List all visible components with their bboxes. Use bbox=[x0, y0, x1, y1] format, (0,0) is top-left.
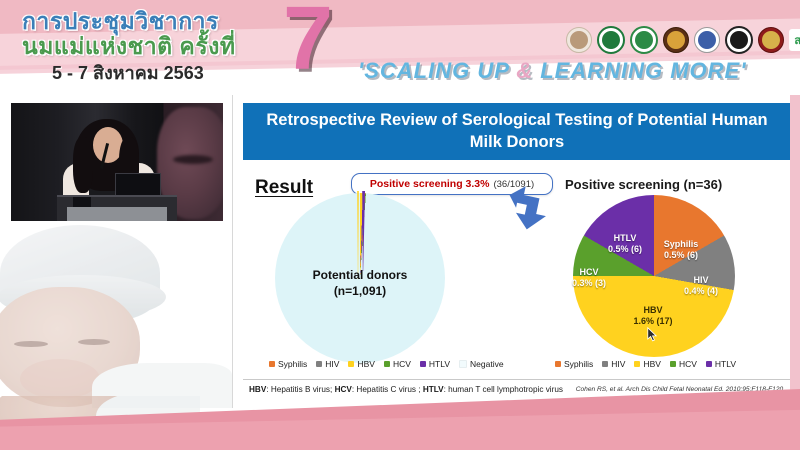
tagline-ampersand: & bbox=[516, 58, 533, 83]
slice-label-hcv-value: 0.3% (3) bbox=[563, 278, 615, 289]
abbrev-hbv-key: HBV bbox=[249, 385, 266, 394]
slice-label-hbv-name: HBV bbox=[617, 305, 689, 316]
potential-donors-pie-chart[interactable]: Potential donors (n=1,091) bbox=[275, 193, 461, 379]
legend-swatch-syphilis bbox=[269, 361, 275, 367]
legend2-swatch-syphilis bbox=[555, 361, 561, 367]
abbrev-htlv-def: : human T cell lymphotropic virus bbox=[444, 385, 563, 394]
conference-date-thai: 5 - 7 สิงหาคม 2563 bbox=[52, 58, 204, 87]
left-video-panel bbox=[0, 95, 232, 408]
black-circle-institution-logo-icon bbox=[725, 26, 753, 54]
slice-label-hiv: HIV 0.4% (4) bbox=[677, 275, 725, 298]
watermark-baby-eye-left bbox=[14, 341, 48, 347]
legend2-item-htlv: HTLV bbox=[706, 359, 736, 369]
slice-label-syphilis-name: Syphilis bbox=[653, 239, 709, 250]
legend-item-hiv: HIV bbox=[316, 359, 339, 369]
watermark-baby-cheek bbox=[20, 359, 100, 399]
legend-label-hiv: HIV bbox=[325, 359, 339, 369]
tagline-part-2: LEARNING MORE' bbox=[540, 58, 746, 83]
royal-emblem-logo-icon bbox=[566, 27, 592, 53]
potential-donors-legend: Syphilis HIV HBV HCV HTLV Negative bbox=[269, 359, 504, 369]
slice-label-syphilis-value: 0.5% (6) bbox=[653, 250, 709, 261]
slice-label-htlv: HTLV 0.5% (6) bbox=[599, 233, 651, 256]
watermark-baby-eye-right bbox=[78, 339, 110, 345]
legend2-item-syphilis: Syphilis bbox=[555, 359, 593, 369]
legend-item-htlv: HTLV bbox=[420, 359, 450, 369]
conference-tagline: 'SCALING UP & LEARNING MORE' bbox=[358, 58, 746, 84]
legend-swatch-htlv bbox=[420, 361, 426, 367]
slice-label-htlv-name: HTLV bbox=[599, 233, 651, 244]
legend2-label-hbv: HBV bbox=[643, 359, 660, 369]
legend2-label-htlv: HTLV bbox=[715, 359, 736, 369]
legend2-label-syphilis: Syphilis bbox=[564, 359, 593, 369]
positive-screening-legend: Syphilis HIV HBV HCV HTLV bbox=[555, 359, 736, 369]
legend-swatch-negative bbox=[459, 360, 467, 368]
podium-base bbox=[67, 207, 167, 221]
slice-label-htlv-value: 0.5% (6) bbox=[599, 244, 651, 255]
abbrev-hbv-def: : Hepatitis B virus; bbox=[266, 385, 334, 394]
legend-item-hcv: HCV bbox=[384, 359, 411, 369]
conference-header-banner: การประชุมวิชาการ นมแม่แห่งชาติ ครั้งที่ … bbox=[0, 0, 800, 95]
slice-label-hiv-value: 0.4% (4) bbox=[677, 286, 725, 297]
down-right-arrow-icon bbox=[501, 185, 549, 233]
speaker-webcam-video[interactable] bbox=[11, 103, 223, 221]
slide-screenshot: การประชุมวิชาการ นมแม่แห่งชาติ ครั้งที่ … bbox=[0, 0, 800, 450]
tagline-part-1: 'SCALING UP bbox=[358, 58, 509, 83]
abbrev-htlv-key: HTLV bbox=[423, 385, 444, 394]
legend2-swatch-hcv bbox=[670, 361, 676, 367]
legend-swatch-hiv bbox=[316, 361, 322, 367]
legend-label-hcv: HCV bbox=[393, 359, 411, 369]
baby-photo-watermark bbox=[0, 223, 232, 408]
legend-label-negative: Negative bbox=[470, 359, 504, 369]
positive-screening-chart-title: Positive screening (n=36) bbox=[565, 177, 722, 192]
red-royal-seal-logo-icon bbox=[758, 27, 784, 53]
royal-crown-orange-logo-icon bbox=[663, 27, 689, 53]
thaihealth-logo-text: สสส bbox=[794, 31, 800, 49]
abbrev-hcv-key: HCV bbox=[335, 385, 352, 394]
sponsor-logo-row: สสส bbox=[566, 26, 800, 54]
abbrev-hcv-def: : Hepatitis C virus ; bbox=[352, 385, 423, 394]
potential-donors-center-label: Potential donors (n=1,091) bbox=[289, 267, 431, 299]
potential-donors-label-line2: (n=1,091) bbox=[289, 283, 431, 299]
positive-screening-pie-chart[interactable]: Syphilis 0.5% (6) HIV 0.4% (4) HBV 1.6% … bbox=[573, 195, 735, 357]
legend-label-htlv: HTLV bbox=[429, 359, 450, 369]
thaihealth-sss-logo-icon: สสส bbox=[789, 29, 800, 51]
slice-label-hcv-name: HCV bbox=[563, 267, 615, 278]
legend-label-syphilis: Syphilis bbox=[278, 359, 307, 369]
legend-swatch-hbv bbox=[348, 361, 354, 367]
slice-label-hbv: HBV 1.6% (17) bbox=[617, 305, 689, 328]
legend-swatch-hcv bbox=[384, 361, 390, 367]
legend2-swatch-hiv bbox=[602, 361, 608, 367]
thai-pediatric-logo-icon bbox=[694, 27, 720, 53]
slice-label-syphilis: Syphilis 0.5% (6) bbox=[653, 239, 709, 262]
legend2-item-hbv: HBV bbox=[634, 359, 660, 369]
legend2-item-hiv: HIV bbox=[602, 359, 625, 369]
ministry-health-green-logo-icon bbox=[597, 26, 625, 54]
legend2-label-hiv: HIV bbox=[611, 359, 625, 369]
legend2-label-hcv: HCV bbox=[679, 359, 697, 369]
legend2-swatch-hbv bbox=[634, 361, 640, 367]
legend-item-hbv: HBV bbox=[348, 359, 374, 369]
slice-label-hiv-name: HIV bbox=[677, 275, 725, 286]
speaker-hair-left bbox=[73, 137, 93, 193]
webcam-foreground-blur-eye bbox=[173, 155, 213, 164]
slice-label-hcv: HCV 0.3% (3) bbox=[563, 267, 615, 290]
slide-title: Retrospective Review of Serological Test… bbox=[243, 103, 791, 160]
presentation-slide[interactable]: Retrospective Review of Serological Test… bbox=[232, 95, 800, 408]
department-health-green-logo-icon bbox=[630, 26, 658, 54]
conference-edition-number: 7 bbox=[283, 0, 333, 84]
legend-label-hbv: HBV bbox=[357, 359, 374, 369]
callout-percent-text: Positive screening 3.3% bbox=[370, 178, 490, 190]
legend2-swatch-htlv bbox=[706, 361, 712, 367]
legend2-item-hcv: HCV bbox=[670, 359, 697, 369]
abbreviation-definitions: HBV: Hepatitis B virus; HCV: Hepatitis C… bbox=[249, 385, 563, 394]
slice-label-hbv-value: 1.6% (17) bbox=[617, 316, 689, 327]
mouse-cursor-icon bbox=[647, 327, 658, 342]
laptop-on-podium bbox=[115, 173, 161, 197]
legend-item-negative: Negative bbox=[459, 359, 504, 369]
legend-item-syphilis: Syphilis bbox=[269, 359, 307, 369]
potential-donors-label-line1: Potential donors bbox=[289, 267, 431, 283]
right-pink-edge bbox=[790, 95, 800, 408]
